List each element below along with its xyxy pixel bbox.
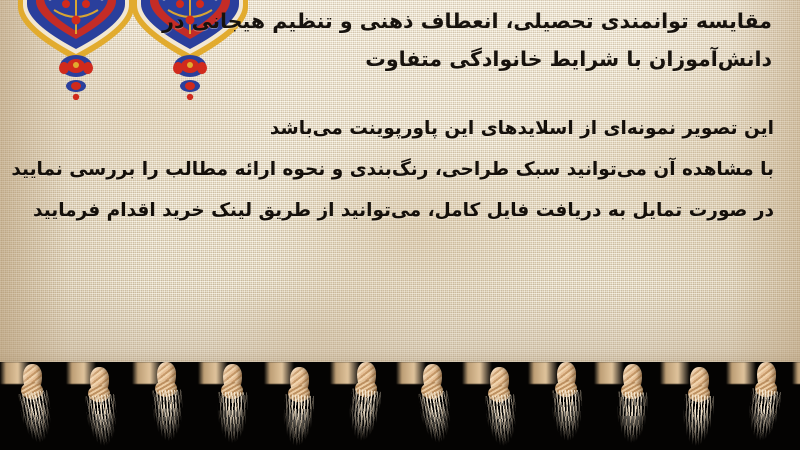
fringe-tassel [616, 362, 650, 450]
fringe-tassel [750, 362, 784, 448]
fringe-strands [18, 390, 56, 450]
fringe-strands [552, 390, 583, 449]
fringe-strands [152, 389, 184, 448]
fringe-strands [418, 390, 455, 450]
fringe-tassel [150, 362, 184, 448]
fringe-strands [680, 394, 715, 450]
fringe-tassel [550, 362, 584, 448]
fringe-tassel [283, 365, 317, 450]
slide-body-line-3: در صورت تمایل به دریافت فایل کامل، می‌تو… [26, 190, 774, 231]
fringe-strands [217, 392, 248, 450]
fringe-strands [616, 391, 648, 450]
fringe-knot [490, 367, 509, 397]
carpet-fringe-band [0, 362, 800, 450]
fringe-strands [345, 388, 382, 449]
slide-body-line-2: با مشاهده آن می‌توانید سبک طراحی، رنگ‌بن… [26, 149, 774, 190]
slide-title-line-1: مقایسه توانمندی تحصیلی، انعطاف ذهنی و تن… [26, 2, 772, 40]
fringe-tassel [350, 362, 384, 448]
fringe-knot [157, 362, 176, 392]
slide-body-line-1: این تصویر نمونه‌ای از اسلایدهای این پاور… [26, 108, 774, 149]
fringe-tassel [83, 365, 117, 450]
fringe-knot [23, 364, 42, 394]
slide-title: مقایسه توانمندی تحصیلی، انعطاف ذهنی و تن… [26, 2, 772, 78]
fringe-strands [485, 394, 519, 450]
fringe-knot [690, 367, 709, 397]
fringe-tassel [483, 365, 517, 450]
presentation-slide: مقایسه توانمندی تحصیلی، انعطاف ذهنی و تن… [0, 0, 800, 450]
fringe-strands [744, 388, 782, 450]
fringe-knot [423, 364, 442, 394]
fringe-tassel [216, 362, 250, 450]
fringe-tassel [416, 362, 450, 450]
fringe-knot [757, 362, 776, 392]
fringe-knot [357, 362, 376, 392]
slide-body-text: این تصویر نمونه‌ای از اسلایدهای این پاور… [26, 108, 774, 231]
fringe-knot [623, 364, 642, 394]
slide-title-line-2: دانش‌آموزان با شرایط خانوادگی متفاوت [26, 40, 772, 78]
fringe-strands [281, 394, 315, 450]
fringe-knot [90, 367, 109, 397]
fringe-knot [223, 364, 242, 394]
fringe-tassel [16, 362, 50, 450]
fringe-knot [557, 362, 576, 392]
fringe-tassel [683, 365, 717, 450]
fringe-knot [290, 367, 309, 397]
fringe-strands [85, 394, 120, 450]
